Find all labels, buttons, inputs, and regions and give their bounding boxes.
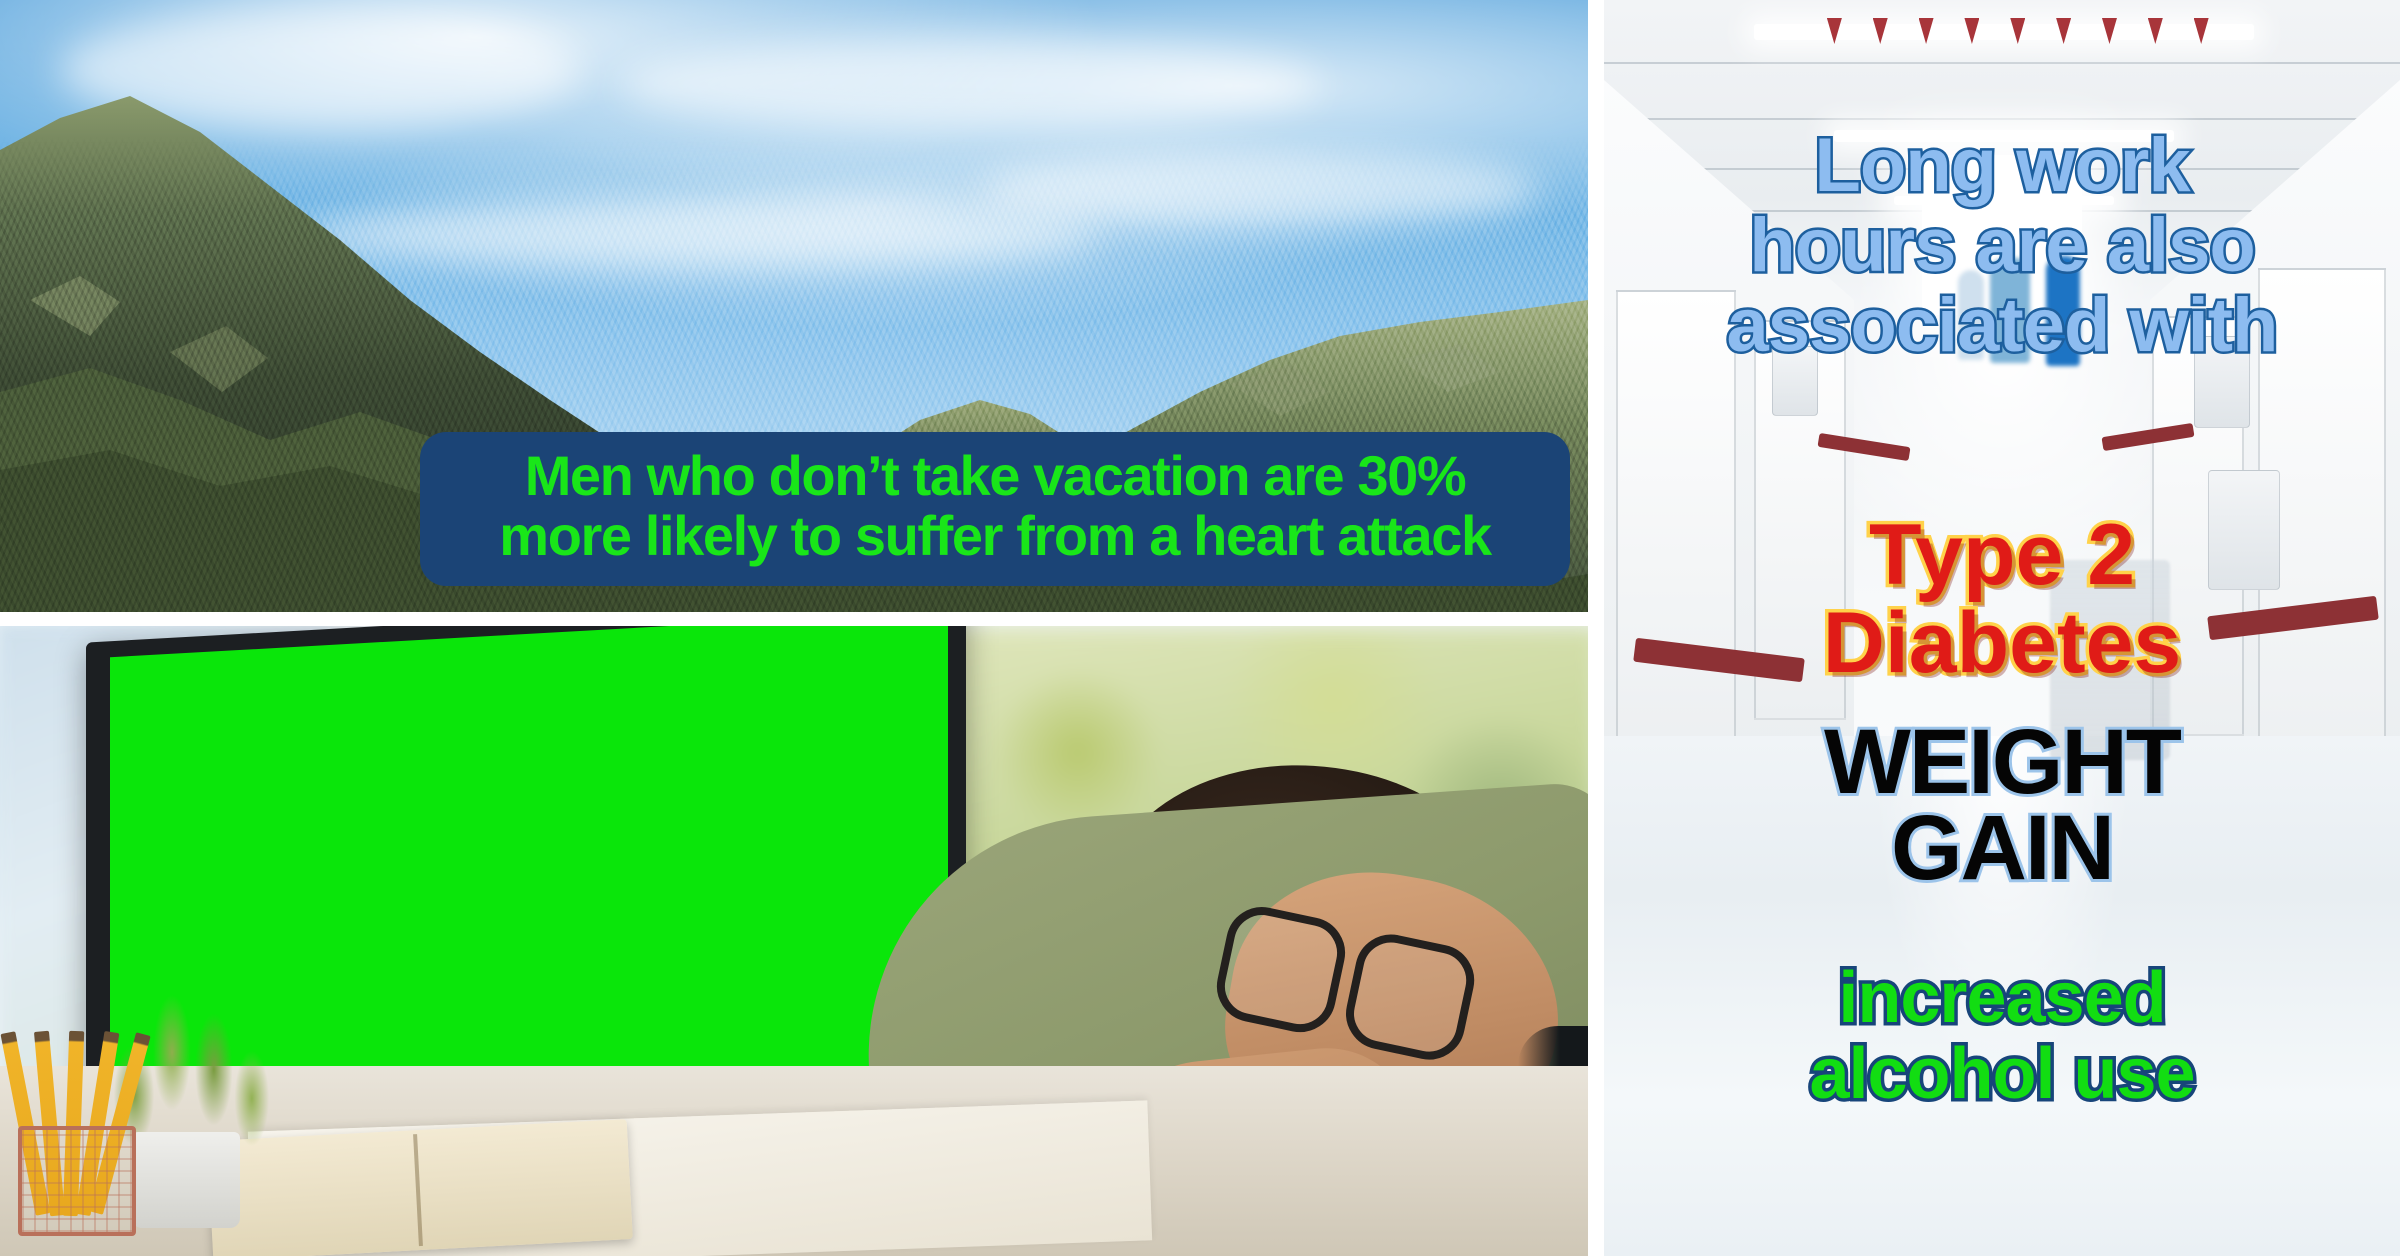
gutter-horizontal [0,612,1588,626]
ceiling-light-2 [1834,130,2174,142]
caption-line-1: Men who don’t take vacation are 30% [446,446,1544,506]
glasses-lens-right [1339,928,1480,1066]
staff-figure-3 [2046,256,2080,366]
corridor-door-left-1 [1616,290,1736,760]
plant-pot [132,1132,240,1228]
caption-vacation-heart-attack: Men who don’t take vacation are 30% more… [420,432,1570,586]
pencil-cup [18,1126,136,1236]
infographic-collage: Men who don’t take vacation are 30% more… [0,0,2400,1256]
ceiling-line-2 [1644,118,2360,120]
panel-hospital: Long work hours are also associated with… [1604,0,2400,1256]
staff-figure-2 [1990,258,2030,363]
staff-figure-1 [1958,270,1984,360]
panel-mountain: Men who don’t take vacation are 30% more… [0,0,1588,612]
wall-equipment-right [2194,336,2250,428]
caption-line-2: more likely to suffer from a heart attac… [446,506,1544,566]
hospital-cart [2050,560,2170,760]
wall-equipment-left [1772,346,1818,416]
wall-dispenser-right [2208,470,2280,590]
gutter-vertical [1588,0,1604,1256]
panel-desk: People who work long hours increase thei… [0,626,1588,1256]
glasses-lens-left [1210,900,1351,1038]
corridor-bunting [1827,18,2209,98]
floor-light-reflection [1875,736,2130,1086]
